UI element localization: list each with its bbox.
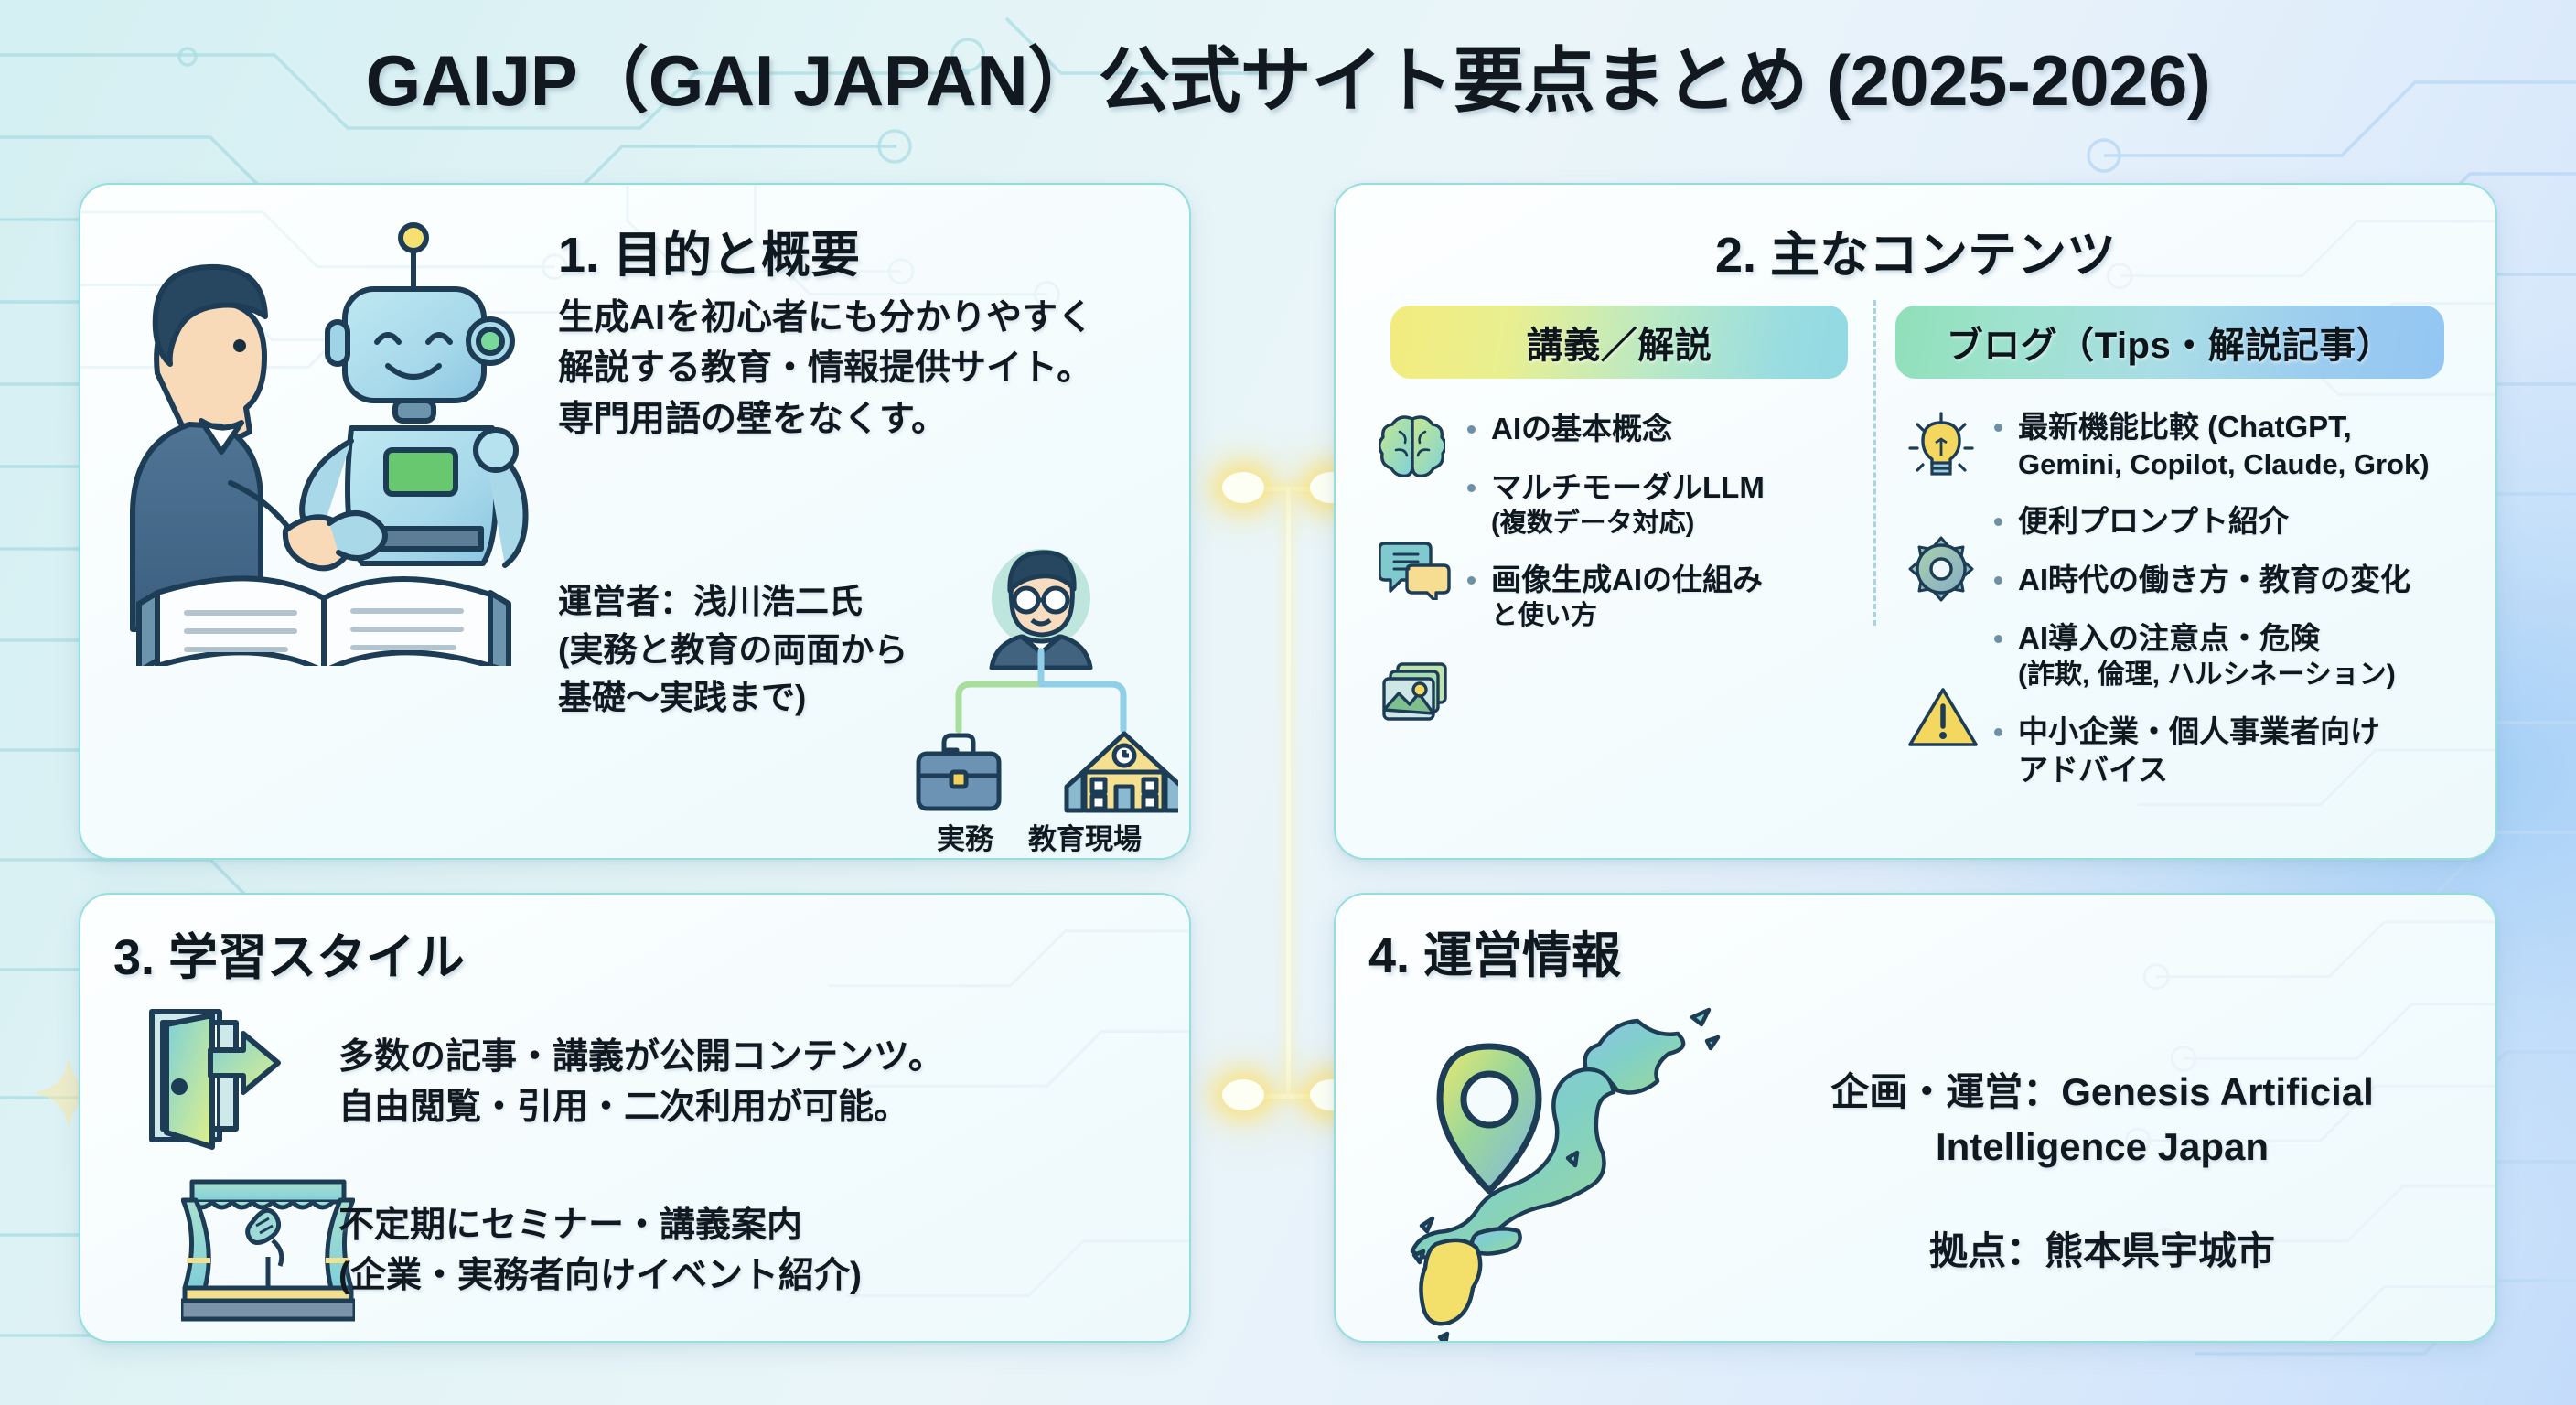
card1-paragraph-line-1: 生成AIを初心者にも分かりやすく: [558, 293, 1162, 343]
location-pin-icon: [1440, 1046, 1539, 1191]
card4-org-line-1: 企画・運営：Genesis Artificial: [1755, 1065, 2450, 1120]
card2-left-bullet-2: マルチモーダルLLM (複数データ対応): [1464, 468, 1837, 541]
card2-right-bullet-4: AI導入の注意点・危険 (詐欺, 倫理, ハルシネーション): [1991, 619, 2466, 692]
lightbulb-icon: [1906, 410, 1976, 479]
card4-org-line-2: Intelligence Japan: [1755, 1120, 2450, 1174]
card2-left-bullet-2-sub: (複数データ対応): [1491, 507, 1837, 541]
warning-triangle-icon: [1906, 684, 1980, 750]
card4-base-line-wrap: 拠点：熊本県宇城市: [1755, 1224, 2450, 1279]
card2-right-bullet-1-sub: Gemini, Copilot, Claude, Grok): [2018, 446, 2466, 482]
pill-blog: ブログ（Tips・解説記事）: [1895, 306, 2444, 379]
card2-left-bullet-3-sub: と使い方: [1491, 599, 1837, 633]
card-learning-style: 3. 学習スタイル 多数の記事・講義が公開コンテンツ。 自由閲覧・引用・二次利用…: [79, 893, 1191, 1343]
card1-title: 1. 目的と概要: [558, 214, 860, 286]
card3-title: 3. 学習スタイル: [113, 917, 465, 989]
card2-right-bullet-3: AI時代の働き方・教育の変化: [1991, 561, 2466, 599]
card2-right-bullet-1: 最新機能比較 (ChatGPT, Gemini, Copilot, Claude…: [1991, 408, 2466, 482]
card3-block2-line-2: (企業・実務者向けイベント紹介): [338, 1250, 1034, 1301]
card-purpose-overview: 1. 目的と概要 生成AIを初心者にも分かりやすく 解説する教育・情報提供サイト…: [79, 183, 1191, 860]
card2-right-bullet-2: 便利プロンプト紹介: [1991, 502, 2466, 541]
card2-left-bullet-2-text: マルチモーダルLLM: [1491, 470, 1765, 504]
brain-icon: [1379, 412, 1445, 477]
orgchart-label-practice: 実務: [937, 816, 993, 857]
card4-base-line: 拠点：熊本県宇城市: [1755, 1224, 2450, 1279]
card3-block1-line-1: 多数の記事・講義が公開コンテンツ。: [338, 1032, 997, 1082]
card2-right-bullet-5: 中小企業・個人事業者向け アドバイス: [1991, 713, 2466, 789]
orgchart-label-education: 教育現場: [1028, 816, 1142, 857]
card3-block2-text: 不定期にセミナー・講義案内 (企業・実務者向けイベント紹介): [338, 1200, 1034, 1302]
card2-right-bullet-4-text: AI導入の注意点・危険: [2018, 621, 2320, 655]
open-door-exit-icon: [141, 1003, 306, 1158]
card2-title: 2. 主なコンテンツ: [1336, 214, 2495, 286]
card2-left-bullet-3: 画像生成AIの仕組み と使い方: [1464, 561, 1837, 633]
school-building-icon: [1067, 734, 1178, 810]
card3-block1-text: 多数の記事・講義が公開コンテンツ。 自由閲覧・引用・二次利用が可能。: [338, 1032, 997, 1133]
card2-right-bullet-5-text: 中小企業・個人事業者向け: [2018, 714, 2380, 748]
card2-right-bullets: 最新機能比較 (ChatGPT, Gemini, Copilot, Claude…: [1991, 408, 2466, 789]
card2-left-bullet-1-text: AIの基本概念: [1491, 412, 1672, 445]
image-stack-icon: [1379, 659, 1451, 724]
connector-line-vertical: [1286, 487, 1291, 1098]
card2-right-bullet-2-text: 便利プロンプト紹介: [2018, 504, 2289, 538]
card4-title: 4. 運営情報: [1368, 915, 1621, 987]
card1-paragraph: 生成AIを初心者にも分かりやすく 解説する教育・情報提供サイト。 専門用語の壁を…: [558, 293, 1162, 445]
card2-right-bullet-4-sub: (詐欺, 倫理, ハルシネーション): [2018, 658, 2466, 692]
stage-microphone-icon: [181, 1169, 355, 1325]
card3-block2-line-1: 不定期にセミナー・講義案内: [338, 1200, 1034, 1250]
japan-map-location-pin-icon: [1389, 990, 1745, 1343]
chat-bubbles-icon: [1379, 534, 1451, 600]
connector-node-top-left: [1222, 472, 1264, 503]
page-title: GAIJP（GAI JAPAN）公式サイト要点まとめ (2025-2026): [0, 24, 2576, 126]
handshake-human-robot-book-icon: [102, 209, 542, 666]
card2-left-bullet-1: AIの基本概念: [1464, 410, 1837, 448]
card2-left-bullet-3-text: 画像生成AIの仕組み: [1491, 563, 1763, 596]
card-main-contents: 2. 主なコンテンツ 講義／解説 ブログ（Tips・解説記事）: [1334, 183, 2497, 860]
gear-icon: [1906, 534, 1976, 604]
org-chart-group: [904, 547, 1178, 821]
card2-right-bullet-1-text: 最新機能比較 (ChatGPT,: [2018, 410, 2352, 444]
card4-org-lines: 企画・運営：Genesis Artificial Intelligence Ja…: [1755, 1065, 2450, 1174]
briefcase-icon: [918, 735, 999, 809]
card2-right-bullet-5-sub: アドバイス: [2018, 751, 2466, 789]
column-divider: [1873, 300, 1876, 626]
card2-left-bullets: AIの基本概念 マルチモーダルLLM (複数データ対応) 画像生成AIの仕組み …: [1464, 410, 1837, 632]
connector-node-bottom-left: [1222, 1079, 1264, 1110]
card1-paragraph-line-2: 解説する教育・情報提供サイト。: [558, 343, 1162, 393]
card3-block1-line-2: 自由閲覧・引用・二次利用が可能。: [338, 1082, 997, 1132]
card2-right-bullet-3-text: AI時代の働き方・教育の変化: [2018, 563, 2410, 596]
kyushu-highlight: [1421, 1240, 1480, 1324]
page-title-text: GAIJP（GAI JAPAN）公式サイト要点まとめ (2025-2026): [366, 24, 2211, 126]
card-operating-info: 4. 運営情報: [1334, 893, 2497, 1343]
pill-lecture: 講義／解説: [1390, 306, 1848, 379]
card1-paragraph-line-3: 専門用語の壁をなくす。: [558, 394, 1162, 445]
